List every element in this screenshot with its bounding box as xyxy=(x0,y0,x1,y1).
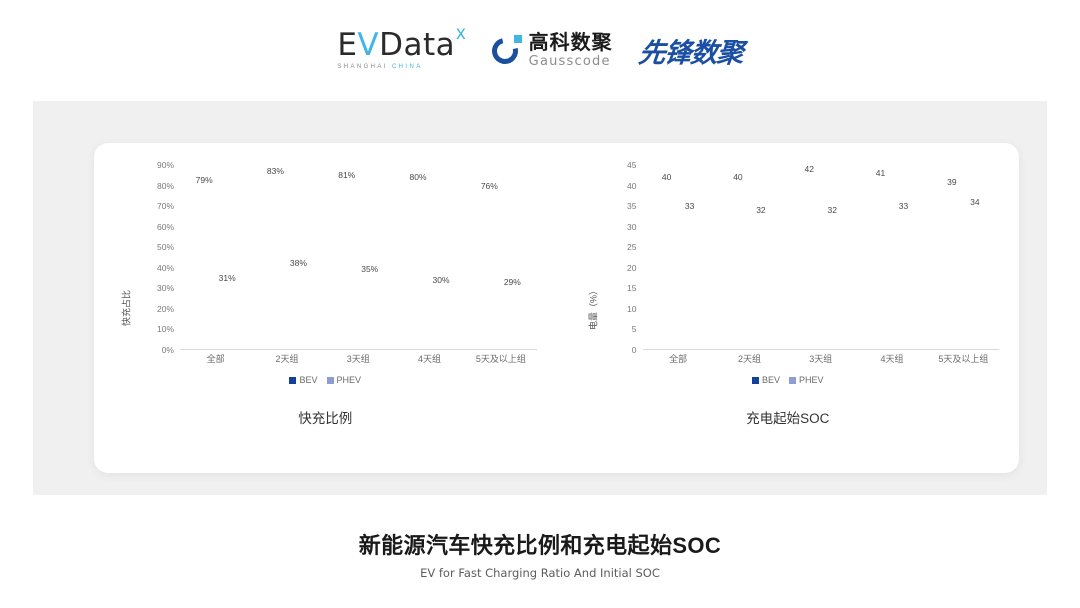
bar-value-label: 31% xyxy=(219,273,236,283)
y-tick: 0 xyxy=(632,345,637,355)
bar-group: 41 33 xyxy=(872,165,912,349)
bar-phev[interactable]: 38% xyxy=(290,271,307,349)
bar-bev[interactable]: 80% xyxy=(410,185,427,349)
legend-swatch-icon xyxy=(327,377,334,384)
y-tick: 70% xyxy=(157,201,174,211)
bar-value-label: 79% xyxy=(196,175,213,185)
bar-bev[interactable]: 76% xyxy=(481,194,498,349)
chart-title-right: 充电起始SOC xyxy=(557,407,1020,427)
y-tick: 80% xyxy=(157,181,174,191)
y-tick: 10 xyxy=(627,304,636,314)
gausscode-name-en: Gausscode xyxy=(529,55,613,68)
y-tick: 25 xyxy=(627,242,636,252)
bar-value-label: 42 xyxy=(805,164,814,174)
bar-phev[interactable]: 29% xyxy=(504,290,521,349)
x-tick-label: 4天组 xyxy=(394,352,465,365)
x-tick-label: 2天组 xyxy=(251,352,322,365)
bar-value-label: 38% xyxy=(290,258,307,268)
bar-phev[interactable]: 31% xyxy=(219,286,236,349)
bar-phev[interactable]: 33 xyxy=(895,214,912,349)
bar-bev[interactable]: 81% xyxy=(338,183,355,349)
gausscode-name-cn: 高科数聚 xyxy=(529,33,613,53)
gausscode-text: 高科数聚 Gausscode xyxy=(529,33,613,68)
x-tick-label: 3天组 xyxy=(323,352,394,365)
legend-swatch-icon xyxy=(752,377,759,384)
bar-bev[interactable]: 41 xyxy=(872,181,889,349)
gausscode-dot-icon xyxy=(514,35,522,43)
plot-right: 45 40 35 30 25 20 15 10 5 0 40 xyxy=(609,165,1000,350)
y-tick: 45 xyxy=(627,160,636,170)
bar-value-label: 76% xyxy=(481,181,498,191)
bar-group: 83% 38% xyxy=(267,165,307,349)
legend-label: PHEV xyxy=(337,375,362,385)
legend-label: BEV xyxy=(762,375,780,385)
x-tick-label: 3天组 xyxy=(785,352,856,365)
bar-value-label: 41 xyxy=(876,168,885,178)
bar-value-label: 35% xyxy=(361,264,378,274)
legend-label: BEV xyxy=(299,375,317,385)
y-axis-title-left: 快充占比 xyxy=(120,290,133,326)
bar-group: 80% 30% xyxy=(410,165,450,349)
legend-item-bev[interactable]: BEV xyxy=(752,375,780,385)
bar-value-label: 80% xyxy=(410,172,427,182)
bar-group: 40 32 xyxy=(729,165,769,349)
evdata-letter-e: E xyxy=(337,27,357,63)
bar-value-label: 33 xyxy=(899,201,908,211)
y-tick: 50% xyxy=(157,242,174,252)
bar-value-label: 39 xyxy=(947,177,956,187)
bar-bev[interactable]: 39 xyxy=(943,190,960,349)
evdata-wordmark: EVData x xyxy=(337,30,465,61)
y-tick: 60% xyxy=(157,222,174,232)
evdata-tagline-country: CHINA xyxy=(392,64,423,70)
x-axis-labels-left: 全部 2天组 3天组 4天组 5天及以上组 xyxy=(180,352,537,365)
y-axis-title-right: 电量（%） xyxy=(586,286,599,330)
x-tick-label: 全部 xyxy=(180,352,251,365)
gausscode-logo: 高科数聚 Gausscode xyxy=(492,33,613,68)
legend-label: PHEV xyxy=(799,375,824,385)
charts-card: 快充占比 90% 80% 70% 60% 50% 40% 30% 20% 10%… xyxy=(94,143,1019,473)
y-axis-ticks-right: 45 40 35 30 25 20 15 10 5 0 xyxy=(609,165,641,350)
evdata-logo: EVData x SHANGHAI CHINA xyxy=(337,30,465,70)
legend-right: BEV PHEV xyxy=(557,375,1020,385)
legend-swatch-icon xyxy=(789,377,796,384)
legend-item-phev[interactable]: PHEV xyxy=(789,375,824,385)
y-tick: 20% xyxy=(157,304,174,314)
y-tick: 40% xyxy=(157,263,174,273)
legend-left: BEV PHEV xyxy=(94,375,557,385)
y-tick: 10% xyxy=(157,324,174,334)
xianfeng-logo: 先锋数聚 xyxy=(637,31,745,70)
bar-bev[interactable]: 40 xyxy=(658,185,675,349)
x-axis-labels-right: 全部 2天组 3天组 4天组 5天及以上组 xyxy=(643,352,1000,365)
legend-item-bev[interactable]: BEV xyxy=(289,375,317,385)
bars-right: 40 33 40 32 xyxy=(643,165,1000,350)
y-tick: 30% xyxy=(157,283,174,293)
y-axis-ticks-left: 90% 80% 70% 60% 50% 40% 30% 20% 10% 0% xyxy=(146,165,178,350)
footer: 新能源汽车快充比例和充电起始SOC EV for Fast Charging R… xyxy=(0,528,1080,580)
chart-initial-soc: 电量（%） 45 40 35 30 25 20 15 10 5 0 xyxy=(557,143,1020,473)
bar-phev[interactable]: 30% xyxy=(433,288,450,349)
x-tick-label: 5天及以上组 xyxy=(465,352,536,365)
y-tick: 0% xyxy=(162,345,174,355)
chart-fast-charging-ratio: 快充占比 90% 80% 70% 60% 50% 40% 30% 20% 10%… xyxy=(94,143,557,473)
y-tick: 35 xyxy=(627,201,636,211)
legend-swatch-icon xyxy=(289,377,296,384)
plot-left: 90% 80% 70% 60% 50% 40% 30% 20% 10% 0% 7… xyxy=(146,165,537,350)
bar-phev[interactable]: 33 xyxy=(681,214,698,349)
bar-value-label: 32 xyxy=(756,205,765,215)
y-tick: 90% xyxy=(157,160,174,170)
evdata-tagline-city: SHANGHAI xyxy=(337,64,388,70)
bar-group: 81% 35% xyxy=(338,165,378,349)
evdata-word: EVData xyxy=(337,30,455,61)
y-tick: 30 xyxy=(627,222,636,232)
bar-value-label: 32 xyxy=(828,205,837,215)
y-tick: 40 xyxy=(627,181,636,191)
evdata-letter-v: V xyxy=(357,27,379,63)
bar-value-label: 40 xyxy=(733,172,742,182)
y-tick: 15 xyxy=(627,283,636,293)
x-tick-label: 4天组 xyxy=(856,352,927,365)
bar-bev[interactable]: 79% xyxy=(196,188,213,350)
bar-value-label: 40 xyxy=(662,172,671,182)
x-tick-label: 2天组 xyxy=(714,352,785,365)
bar-value-label: 81% xyxy=(338,170,355,180)
logo-bar: EVData x SHANGHAI CHINA 高科数聚 Gausscode 先… xyxy=(0,0,1080,92)
bar-value-label: 83% xyxy=(267,166,284,176)
bar-group: 40 33 xyxy=(658,165,698,349)
bar-value-label: 30% xyxy=(433,275,450,285)
x-tick-label: 5天及以上组 xyxy=(928,352,999,365)
bar-group: 76% 29% xyxy=(481,165,521,349)
chart-title-left: 快充比例 xyxy=(94,407,557,427)
bar-group: 79% 31% xyxy=(196,165,236,349)
y-tick: 20 xyxy=(627,263,636,273)
bar-value-label: 33 xyxy=(685,201,694,211)
bar-value-label: 29% xyxy=(504,277,521,287)
page-subtitle: EV for Fast Charging Ratio And Initial S… xyxy=(0,566,1080,580)
bar-bev[interactable]: 42 xyxy=(801,177,818,349)
bar-bev[interactable]: 83% xyxy=(267,179,284,349)
charts-container: 快充占比 90% 80% 70% 60% 50% 40% 30% 20% 10%… xyxy=(94,143,1019,473)
bar-phev[interactable]: 35% xyxy=(361,277,378,349)
bars-left: 79% 31% 83% 3 xyxy=(180,165,537,350)
evdata-letter-data: Data xyxy=(379,27,455,63)
gausscode-mark-icon xyxy=(492,35,522,65)
legend-item-phev[interactable]: PHEV xyxy=(327,375,362,385)
bar-phev[interactable]: 32 xyxy=(824,218,841,349)
evdata-tagline: SHANGHAI CHINA xyxy=(337,64,422,70)
bar-bev[interactable]: 40 xyxy=(729,185,746,349)
bar-group: 42 32 xyxy=(801,165,841,349)
evdata-x-icon: x xyxy=(456,23,466,45)
bar-phev[interactable]: 34 xyxy=(966,210,983,349)
bar-value-label: 34 xyxy=(970,197,979,207)
page-title: 新能源汽车快充比例和充电起始SOC xyxy=(0,528,1080,560)
bar-phev[interactable]: 32 xyxy=(752,218,769,349)
y-tick: 5 xyxy=(632,324,637,334)
bar-group: 39 34 xyxy=(943,165,983,349)
x-tick-label: 全部 xyxy=(643,352,714,365)
